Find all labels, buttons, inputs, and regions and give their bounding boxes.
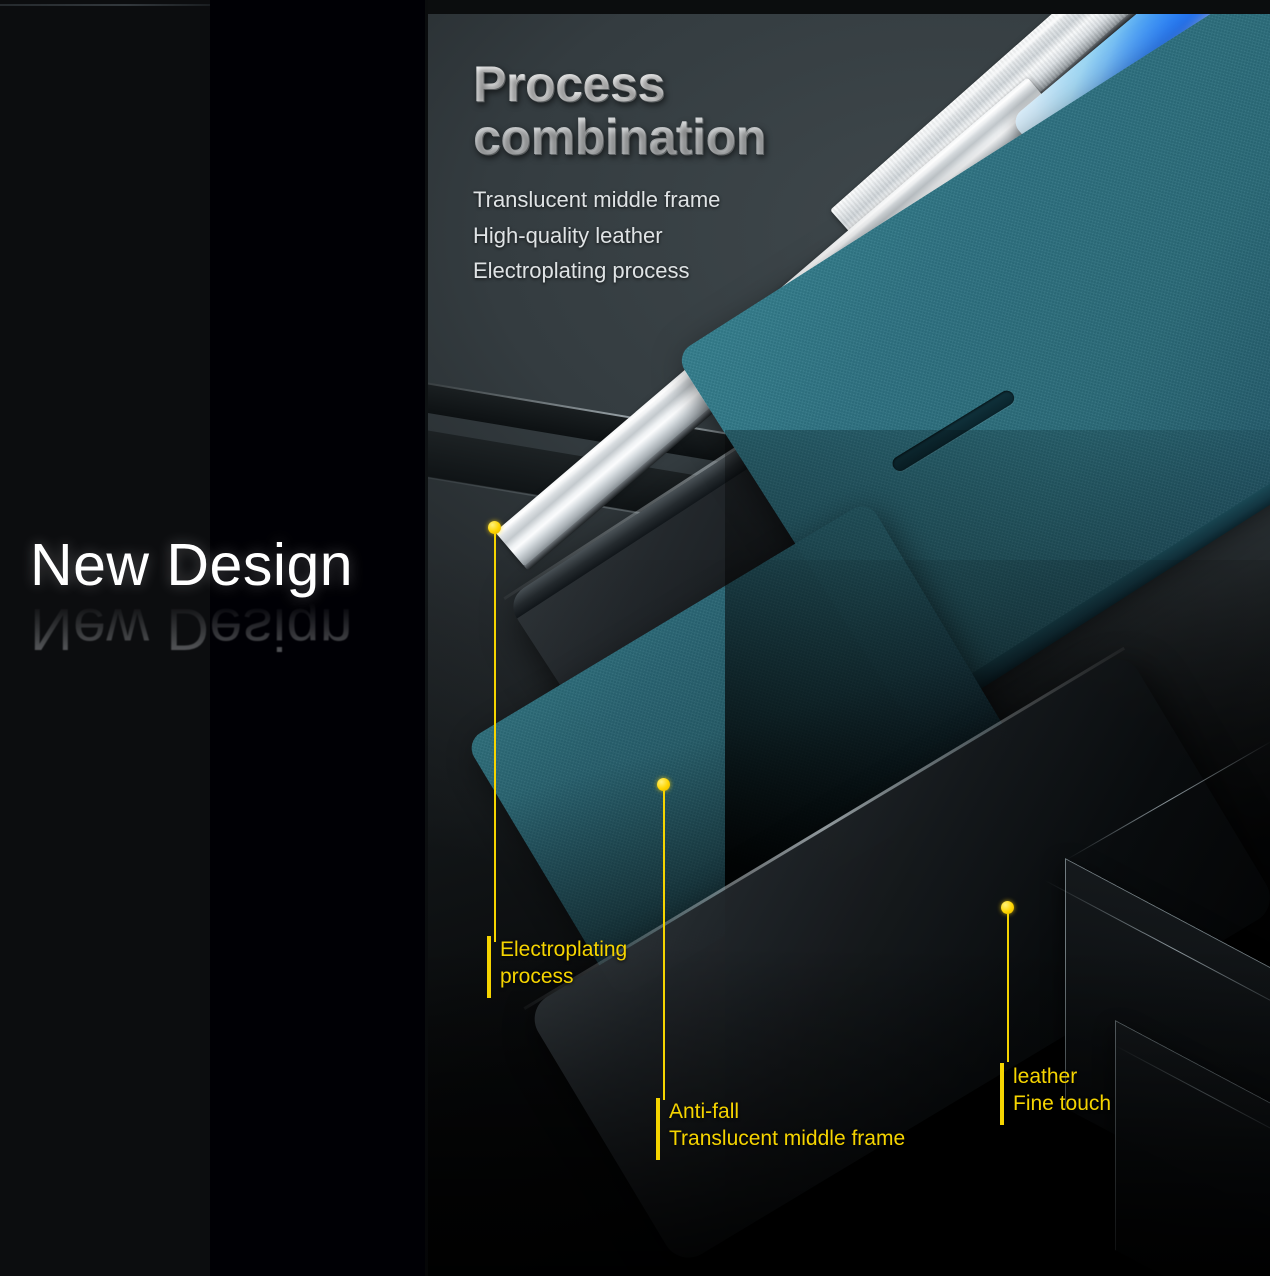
headline-block: Processcombination Translucent middle fr… bbox=[473, 58, 893, 289]
callout-electroplating-line-2: process bbox=[500, 963, 627, 990]
hero-title-reflection: New Design bbox=[30, 599, 430, 658]
feature-item-1: High-quality leather bbox=[473, 218, 893, 254]
top-hairline-accent bbox=[0, 4, 210, 6]
panel-top-band bbox=[425, 0, 1270, 14]
feature-item-2: Electroplating process bbox=[473, 253, 893, 289]
callout-electroplating: Electroplating process bbox=[487, 936, 627, 998]
callout-tick-antifall bbox=[656, 1098, 660, 1160]
callout-lead-leather bbox=[1007, 910, 1009, 1062]
feature-list: Translucent middle frame High-quality le… bbox=[473, 182, 893, 289]
product-marketing-image: New Design New Design NEW DESIGN bbox=[0, 0, 1270, 1276]
callout-leather: leather Fine touch bbox=[1000, 1063, 1111, 1125]
callout-leather-line-2: Fine touch bbox=[1013, 1090, 1111, 1117]
callout-leather-line-1: leather bbox=[1013, 1063, 1111, 1090]
callout-text-electroplating: Electroplating process bbox=[500, 936, 627, 998]
callout-antifall-line-1: Anti-fall bbox=[669, 1098, 905, 1125]
callout-text-antifall: Anti-fall Translucent middle frame bbox=[669, 1098, 905, 1160]
hero-title: New Design bbox=[30, 536, 430, 595]
callout-lead-antifall bbox=[663, 787, 665, 1100]
callout-antifall-line-2: Translucent middle frame bbox=[669, 1125, 905, 1152]
callout-electroplating-line-1: Electroplating bbox=[500, 936, 627, 963]
callout-dot-leather bbox=[1001, 901, 1014, 914]
panel-divider-edge bbox=[425, 0, 428, 1276]
callout-lead-electroplating bbox=[494, 530, 496, 942]
callout-tick-electroplating bbox=[487, 936, 491, 998]
product-scene: NEW DESIGN bbox=[425, 0, 1270, 1276]
callout-dot-electroplating bbox=[488, 521, 501, 534]
headline-title: Processcombination bbox=[473, 58, 893, 164]
feature-item-0: Translucent middle frame bbox=[473, 182, 893, 218]
headline-line-2: combination bbox=[473, 109, 766, 165]
callout-antifall: Anti-fall Translucent middle frame bbox=[656, 1098, 905, 1160]
hero-text-block: New Design New Design bbox=[30, 536, 430, 666]
callout-text-leather: leather Fine touch bbox=[1013, 1063, 1111, 1125]
headline-line-1: Process bbox=[473, 56, 665, 112]
callout-tick-leather bbox=[1000, 1063, 1004, 1125]
callout-dot-antifall bbox=[657, 778, 670, 791]
